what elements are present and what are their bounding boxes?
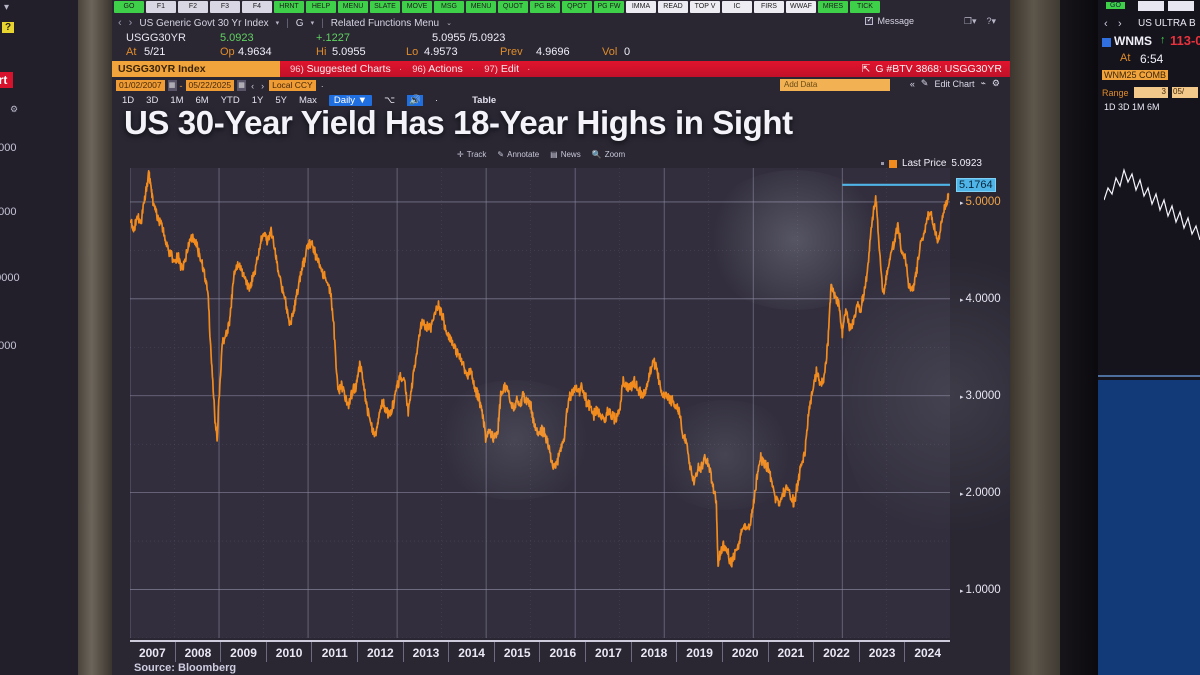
quote-open-value: 4.9634 <box>238 46 272 58</box>
edit-number: 97) <box>484 64 498 75</box>
quote-bid-ask: 5.0955 /5.0923 <box>432 32 505 44</box>
message-checkbox[interactable]: Message <box>865 16 914 26</box>
quote-low-value: 4.9573 <box>424 46 458 58</box>
function-key-f2[interactable]: F2 <box>178 1 208 13</box>
message-label: Message <box>877 16 914 26</box>
bar-dot-1: · <box>399 63 403 75</box>
function-key-top-v[interactable]: TOP V <box>690 1 720 13</box>
function-key-hrnt[interactable]: HRNT <box>274 1 304 13</box>
x-tick-2016: 2016 <box>540 642 586 662</box>
x-tick-2008: 2008 <box>176 642 222 662</box>
x-tick-2011: 2011 <box>312 642 358 662</box>
quote-prev-value: 4.9696 <box>536 46 570 58</box>
quote-vol-value: 0 <box>624 46 630 58</box>
right-divider <box>1098 375 1200 377</box>
right-fkey-2[interactable] <box>1168 1 1194 11</box>
bar-dot-2: · <box>471 63 475 75</box>
nav-separator: | <box>286 18 289 29</box>
chart-id-text: G #BTV 3868: USGG30YR <box>875 61 1002 77</box>
edit-label: Edit <box>501 63 519 75</box>
quote-at-label: At <box>126 46 136 58</box>
right-contract-chip[interactable]: WNM25 COMB <box>1102 70 1168 80</box>
left-axis-label: 0000 <box>0 206 16 218</box>
function-key-tick[interactable]: TICK <box>850 1 880 13</box>
right-status-dot <box>1102 38 1111 47</box>
x-tick-2019: 2019 <box>677 642 723 662</box>
right-fkey-1[interactable] <box>1138 1 1164 11</box>
function-key-f4[interactable]: F4 <box>242 1 272 13</box>
currency-dot-icon: · <box>319 81 326 91</box>
x-tick-2020: 2020 <box>723 642 769 662</box>
edit-chart-label[interactable]: Edit Chart <box>934 79 974 89</box>
actions-number: 96) <box>412 64 426 75</box>
annotate-icon: ✎ <box>497 150 504 159</box>
monitor-gap <box>1060 0 1100 675</box>
x-tick-2021: 2021 <box>769 642 815 662</box>
right-at-label: At <box>1120 52 1130 64</box>
x-tick-2024: 2024 <box>905 642 950 662</box>
suggested-charts-button[interactable]: 96) Suggested Charts <box>290 63 391 75</box>
legend-color-swatch <box>889 160 897 168</box>
pencil-icon[interactable]: ✎ <box>921 78 929 89</box>
function-key-move[interactable]: MOVE <box>402 1 432 13</box>
x-tick-2022: 2022 <box>814 642 860 662</box>
left-monitor-panel: ▾ ? ▾ art ⚙ 0000 0000 0,0000 0000 <box>0 0 78 675</box>
x-tick-2007: 2007 <box>130 642 176 662</box>
edit-button[interactable]: 97) Edit <box>484 63 519 75</box>
x-tick-2010: 2010 <box>267 642 313 662</box>
news-label: News <box>561 150 581 159</box>
right-price: 113-0 <box>1170 33 1200 48</box>
quote-last: 5.0923 <box>220 32 254 44</box>
function-key-quot[interactable]: QUOT <box>498 1 528 13</box>
function-key-ic[interactable]: IC <box>722 1 752 13</box>
ticker-chip[interactable]: USGG30YR Index <box>112 61 280 77</box>
function-key-slate[interactable]: SLATE <box>370 1 400 13</box>
y-axis: 1.00002.00003.00004.00005.00005.1764 <box>950 168 1010 638</box>
function-key-msg[interactable]: MSG <box>434 1 464 13</box>
news-icon: ▤ <box>550 150 558 159</box>
chart-background <box>130 168 950 638</box>
function-key-pg-bk[interactable]: PG BK <box>530 1 560 13</box>
go-button[interactable]: GO <box>1106 2 1125 9</box>
function-key-menu[interactable]: MENU <box>466 1 496 13</box>
function-key-mres[interactable]: MRES <box>818 1 848 13</box>
y-tick-1.0000: 1.0000 <box>960 584 1001 596</box>
function-key-row: GOF1F2F3F4HRNTHELPMENUSLATEMOVEMSGMENUQU… <box>112 0 1010 14</box>
right-forward-icon[interactable]: › <box>1118 18 1122 30</box>
x-tick-2013: 2013 <box>404 642 450 662</box>
left-dropdown-icon[interactable]: ▾ <box>4 2 9 13</box>
add-data-field[interactable]: Add Data <box>780 79 890 91</box>
function-key-f1[interactable]: F1 <box>146 1 176 13</box>
x-tick-2018: 2018 <box>632 642 678 662</box>
actions-button[interactable]: 96) Actions <box>412 63 463 75</box>
start-date-field[interactable]: 01/02/2007 <box>116 80 165 91</box>
function-key-wwaf[interactable]: WWAF <box>786 1 816 13</box>
function-key-pg-fw[interactable]: PG FW <box>594 1 624 13</box>
zoom-label: Zoom <box>605 150 625 159</box>
x-tick-2014: 2014 <box>449 642 495 662</box>
track-icon: ✛ <box>457 150 464 159</box>
start-date-calendar-icon[interactable]: ▦ <box>168 80 177 91</box>
x-tick-2017: 2017 <box>586 642 632 662</box>
related-functions-menu[interactable]: Related Functions Menu <box>331 18 439 29</box>
edit-chart-controls: « ✎ Edit Chart ⌁ ⚙ <box>910 78 1000 89</box>
function-key-read[interactable]: READ <box>658 1 688 13</box>
y-tick-4.0000: 4.0000 <box>960 293 1001 305</box>
screen-photo: ▾ ? ▾ art ⚙ 0000 0000 0,0000 0000 GOF1F2… <box>0 0 1200 675</box>
nav-forward-icon[interactable]: › <box>129 17 133 29</box>
chevron-down-icon-2[interactable]: ⌄ <box>446 19 452 27</box>
left-axis-label: 0,0000 <box>0 272 20 284</box>
x-tick-2023: 2023 <box>860 642 906 662</box>
right-periods[interactable]: 1D 3D 1M 6M <box>1104 102 1160 112</box>
annotate-tool[interactable]: ✎Annotate <box>497 150 539 159</box>
page-title: US 30-Year Yield Has 18-Year Highs in Si… <box>124 104 1004 144</box>
function-key-help[interactable]: HELP <box>306 1 336 13</box>
chart-svg <box>130 168 950 638</box>
window-icon[interactable]: ❐▾ <box>964 16 977 27</box>
quote-high-value: 5.0955 <box>332 46 366 58</box>
security-name[interactable]: US Generic Govt 30 Yr Index <box>139 18 268 29</box>
right-ticker: WNMS <box>1114 34 1152 48</box>
end-date-field[interactable]: 05/22/2025 <box>186 80 235 91</box>
quote-vol-label: Vol <box>602 46 617 58</box>
checkbox-icon[interactable] <box>865 17 873 25</box>
right-chart-area <box>1098 380 1200 675</box>
x-tick-2009: 2009 <box>221 642 267 662</box>
command-bar: USGG30YR Index 96) Suggested Charts · 96… <box>112 61 1010 77</box>
nav-separator-2: | <box>321 18 324 29</box>
zoom-icon: 🔍 <box>592 150 602 159</box>
x-axis: 2007200820092010201120122013201420152016… <box>130 640 950 662</box>
collapse-icon[interactable]: « <box>910 79 915 89</box>
chart-toolbar: ✛Track✎Annotate▤News🔍Zoom <box>457 150 625 159</box>
chevron-down-icon[interactable]: ▾ <box>276 19 280 27</box>
left-axis-label: 0000 <box>0 142 16 154</box>
left-help-button[interactable]: ? <box>2 22 14 33</box>
right-range-label: Range <box>1102 88 1129 98</box>
chart-id-label: ⇱ G #BTV 3868: USGG30YR <box>862 61 1002 77</box>
right-at-value: 6:54 <box>1140 52 1163 66</box>
quote-ticker: USGG30YR <box>126 32 186 44</box>
function-key-go[interactable]: GO <box>114 1 144 13</box>
function-key-qpot[interactable]: QPOT <box>562 1 592 13</box>
y-tick-last-price: 5.0000 <box>960 196 1001 208</box>
quote-open-label: Op <box>220 46 235 58</box>
monitor-bezel-left <box>78 0 112 675</box>
track-tool[interactable]: ✛Track <box>457 150 486 159</box>
track-label: Track <box>467 150 487 159</box>
x-tick-2012: 2012 <box>358 642 404 662</box>
date-next-icon[interactable]: › <box>259 81 266 91</box>
function-key-menu[interactable]: MENU <box>338 1 368 13</box>
left-chart-button[interactable]: art <box>0 72 13 88</box>
quote-change: +.1227 <box>316 32 350 44</box>
help-icon[interactable]: ?▾ <box>986 16 996 27</box>
right-security-name[interactable]: US ULTRA B <box>1138 18 1196 29</box>
right-range-date[interactable]: 05/ <box>1172 87 1198 98</box>
end-date-calendar-icon[interactable]: ▦ <box>237 80 246 91</box>
legend-bullet-icon <box>881 162 884 165</box>
annotate-label: Annotate <box>507 150 539 159</box>
suggested-charts-number: 96) <box>290 64 304 75</box>
right-mini-chart <box>1104 130 1200 290</box>
gear-icon[interactable]: ⚙ <box>992 78 1000 89</box>
function-key-imma[interactable]: IMMA <box>626 1 656 13</box>
quote-prev-label: Prev <box>500 46 523 58</box>
export-icon[interactable]: ⇱ <box>862 61 871 77</box>
y-tick-3.0000: 3.0000 <box>960 390 1001 402</box>
right-range-value[interactable]: 3 <box>1134 87 1168 98</box>
quote-block: USGG30YR 5.0923 +.1227 5.0955 /5.0923 At… <box>112 32 1010 60</box>
function-key-f3[interactable]: F3 <box>210 1 240 13</box>
zoom-tool[interactable]: 🔍Zoom <box>592 150 625 159</box>
actions-label: Actions <box>428 63 462 75</box>
date-prev-icon[interactable]: ‹ <box>249 81 256 91</box>
quote-low-label: Lo <box>406 46 418 58</box>
y-tick-2.0000: 2.0000 <box>960 487 1001 499</box>
function-code[interactable]: G <box>296 18 304 29</box>
highlight-value-label: 5.1764 <box>956 178 996 192</box>
left-axis-label: 0000 <box>0 340 16 352</box>
suggested-charts-label: Suggested Charts <box>307 63 391 75</box>
chart-type-icon[interactable]: ⌁ <box>981 78 986 89</box>
bloomberg-terminal-panel: GOF1F2F3F4HRNTHELPMENUSLATEMOVEMSGMENUQU… <box>112 0 1010 675</box>
quote-high-label: Hi <box>316 46 326 58</box>
window-controls: ❐▾ ?▾ <box>964 16 996 27</box>
right-monitor-panel: GO ‹ › US ULTRA B WNMS ↑ 113-0 At 6:54 W… <box>1098 0 1200 675</box>
gear-icon[interactable]: ⚙ <box>10 104 18 115</box>
price-chart[interactable] <box>130 168 950 638</box>
quote-at-value: 5/21 <box>144 46 165 58</box>
function-key-firs[interactable]: FIRS <box>754 1 784 13</box>
bar-dot-3: · <box>527 63 531 75</box>
x-tick-2015: 2015 <box>495 642 541 662</box>
source-label: Source: Bloomberg <box>134 662 236 674</box>
news-tool[interactable]: ▤News <box>550 150 581 159</box>
nav-back-icon[interactable]: ‹ <box>118 17 122 29</box>
chevron-down-icon[interactable]: ▾ <box>311 19 315 27</box>
currency-selector[interactable]: Local CCY <box>269 80 316 91</box>
arrow-up-icon: ↑ <box>1160 34 1166 46</box>
right-back-icon[interactable]: ‹ <box>1104 18 1108 30</box>
